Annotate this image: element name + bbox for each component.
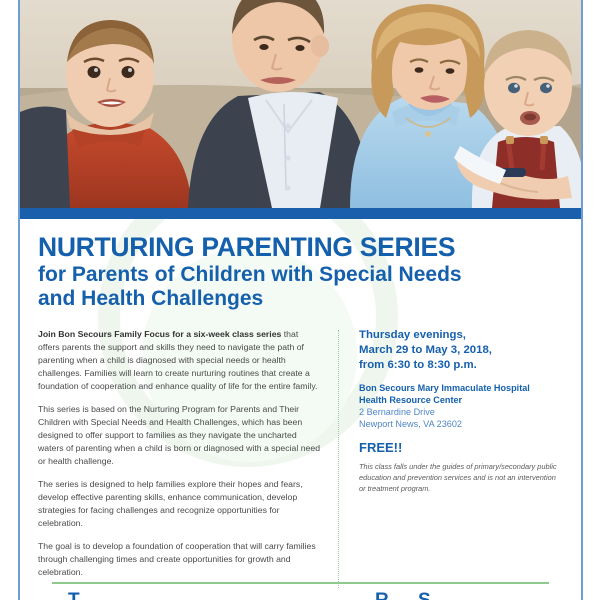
disclaimer-text: This class falls under the guides of pri… bbox=[359, 462, 563, 494]
description-lead: Join Bon Secours Family Focus for a six-… bbox=[38, 329, 281, 339]
footer-right-glyph-2: S bbox=[418, 591, 431, 600]
schedule-time: from 6:30 to 8:30 p.m. bbox=[359, 358, 563, 373]
address-block: 2 Bernardine Drive Newport News, VA 2360… bbox=[359, 406, 563, 430]
family-photo-illustration bbox=[20, 0, 581, 208]
address-street: 2 Bernardine Drive bbox=[359, 406, 563, 418]
description-paragraph-3: The series is designed to help families … bbox=[38, 478, 322, 531]
page-subtitle-line1: for Parents of Children with Special Nee… bbox=[38, 263, 462, 286]
address-city-state-zip: Newport News, VA 23602 bbox=[359, 418, 563, 430]
description-column: Join Bon Secours Family Focus for a six-… bbox=[38, 328, 338, 589]
venue-block: Bon Secours Mary Immaculate Hospital Hea… bbox=[359, 382, 563, 406]
footer-right-glyph-1: R bbox=[375, 591, 389, 600]
description-paragraph-4: The goal is to develop a foundation of c… bbox=[38, 540, 322, 580]
flyer-page: NURTURING PARENTING SERIES for Parents o… bbox=[18, 0, 583, 600]
schedule-dates: March 29 to May 3, 2018, bbox=[359, 343, 563, 358]
content-area: NURTURING PARENTING SERIES for Parents o… bbox=[20, 219, 581, 600]
venue-name: Bon Secours Mary Immaculate Hospital bbox=[359, 382, 563, 394]
details-column: Thursday evenings, March 29 to May 3, 20… bbox=[339, 328, 563, 589]
description-paragraph-2: This series is based on the Nurturing Pr… bbox=[38, 403, 322, 469]
schedule-block: Thursday evenings, March 29 to May 3, 20… bbox=[359, 328, 563, 373]
two-column-body: Join Bon Secours Family Focus for a six-… bbox=[38, 328, 563, 589]
photo-blue-band bbox=[20, 208, 581, 219]
schedule-day: Thursday evenings, bbox=[359, 328, 563, 343]
price-badge: FREE!! bbox=[359, 440, 563, 455]
footer-left-glyph: T bbox=[68, 591, 80, 600]
green-divider-rule bbox=[52, 582, 549, 584]
footer-cropped-text: T R S bbox=[20, 591, 581, 600]
family-photo bbox=[20, 0, 581, 208]
page-subtitle-line2: and Health Challenges bbox=[38, 287, 263, 310]
page-subtitle: for Parents of Children with Special Nee… bbox=[38, 263, 563, 310]
page-title: NURTURING PARENTING SERIES bbox=[38, 233, 563, 261]
venue-department: Health Resource Center bbox=[359, 394, 563, 406]
description-paragraph-1: Join Bon Secours Family Focus for a six-… bbox=[38, 328, 322, 394]
